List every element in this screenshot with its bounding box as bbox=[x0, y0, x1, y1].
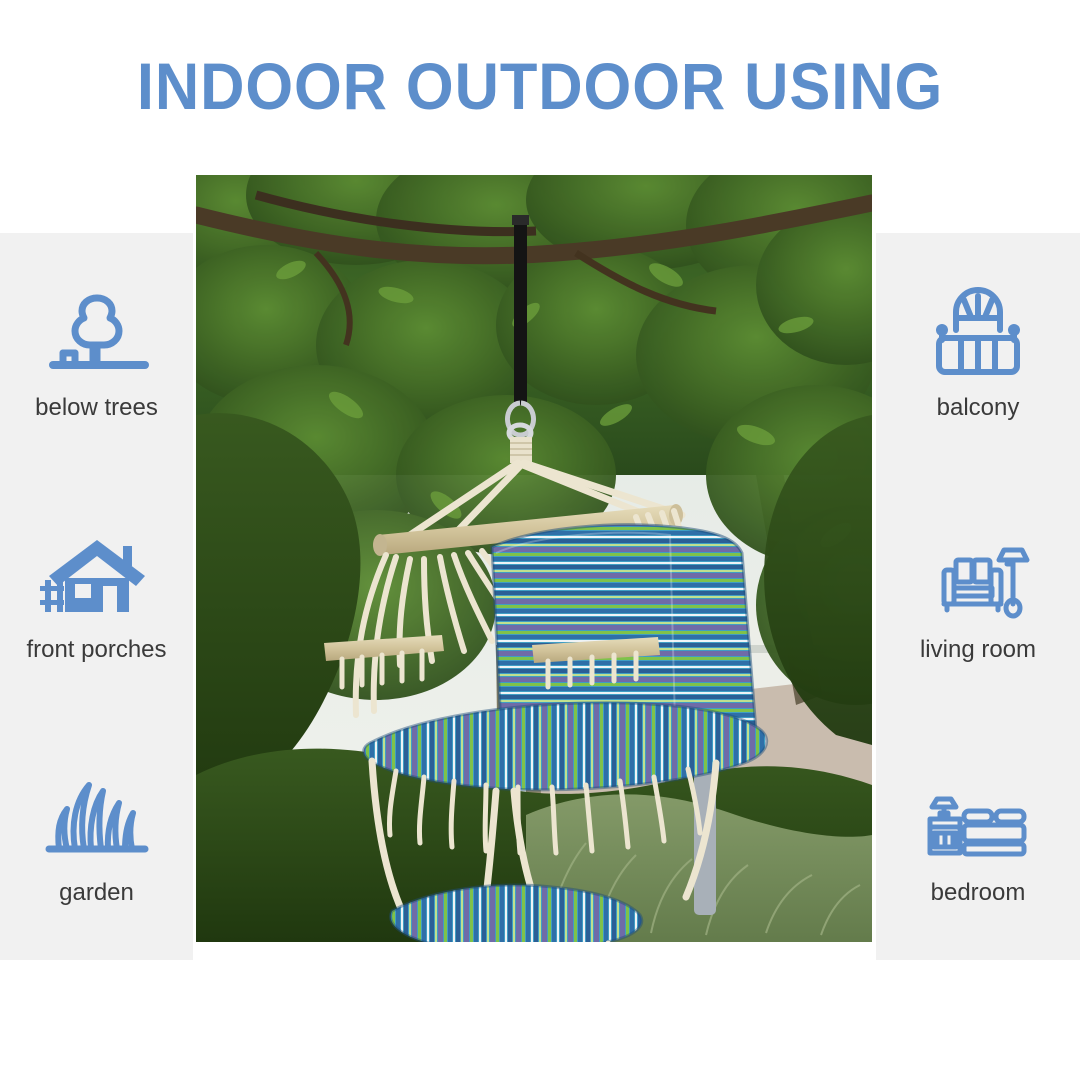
sofa-lamp-icon bbox=[918, 528, 1038, 624]
feature-living-room: living room bbox=[876, 528, 1080, 664]
balcony-railing-icon bbox=[918, 286, 1038, 382]
infographic-canvas: INDOOR OUTDOOR USING below trees bbox=[0, 0, 1080, 1080]
page-title: INDOOR OUTDOOR USING bbox=[38, 48, 1042, 124]
left-feature-panel: below trees bbox=[0, 233, 193, 960]
grass-icon bbox=[37, 771, 157, 867]
feature-below-trees: below trees bbox=[0, 286, 193, 422]
feature-label: living room bbox=[920, 636, 1036, 664]
feature-label: balcony bbox=[937, 394, 1020, 422]
bed-nightstand-icon bbox=[918, 771, 1038, 867]
feature-label: garden bbox=[59, 879, 134, 907]
house-fence-icon bbox=[37, 528, 157, 624]
right-feature-panel: balcony bbox=[876, 233, 1080, 960]
feature-garden: garden bbox=[0, 771, 193, 907]
feature-label: front porches bbox=[26, 636, 166, 664]
feature-balcony: balcony bbox=[876, 286, 1080, 422]
feature-label: bedroom bbox=[931, 879, 1026, 907]
feature-label: below trees bbox=[35, 394, 158, 422]
tree-bench-icon bbox=[37, 286, 157, 382]
feature-front-porches: front porches bbox=[0, 528, 193, 664]
hanging-hammock-chair-photo bbox=[196, 175, 872, 942]
feature-bedroom: bedroom bbox=[876, 771, 1080, 907]
